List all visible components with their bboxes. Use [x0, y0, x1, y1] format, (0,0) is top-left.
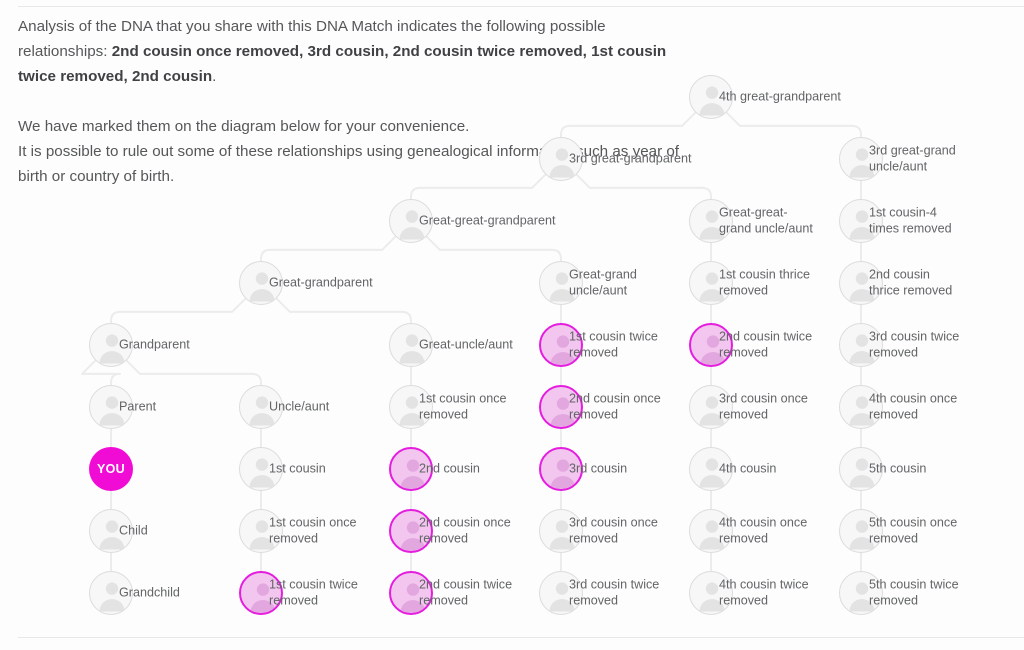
tree-node-child[interactable]: Child	[89, 509, 133, 553]
intro-spacer	[18, 89, 698, 114]
connector-elbow	[127, 361, 261, 385]
intro-line-2-prefix: relationships:	[18, 43, 112, 60]
top-divider	[18, 6, 1024, 7]
tree-node-label: 3rd great-grand uncle/aunt	[869, 144, 956, 175]
tree-node-label: 1st cousin thrice removed	[719, 268, 810, 299]
intro-period: .	[212, 68, 216, 85]
tree-node-3rd-gg-uncle[interactable]: 3rd great-grand uncle/aunt	[839, 137, 883, 181]
tree-node-4c2r-b[interactable]: 4th cousin twice removed	[689, 571, 733, 615]
tree-node-label: Great-grandparent	[269, 275, 373, 291]
tree-node-label: 2nd cousin twice removed	[419, 578, 512, 609]
tree-node-label: 1st cousin twice removed	[269, 578, 358, 609]
tree-node-g-gp[interactable]: Great-grandparent	[239, 261, 283, 305]
tree-node-3c1r-b[interactable]: 3rd cousin once removed	[539, 509, 583, 553]
tree-node-3rd-cousin[interactable]: 3rd cousin	[539, 447, 583, 491]
tree-node-3c2r-a[interactable]: 3rd cousin twice removed	[839, 323, 883, 367]
tree-node-label: 2nd cousin	[419, 461, 480, 477]
tree-node-label: 3rd cousin once removed	[569, 516, 658, 547]
tree-node-label: 4th cousin	[719, 461, 776, 477]
person-avatar-icon: YOU	[89, 447, 133, 491]
tree-node-label: Great-uncle/aunt	[419, 337, 513, 353]
tree-node-label: 2nd cousin thrice removed	[869, 268, 952, 299]
tree-node-4c1r-a[interactable]: 4th cousin once removed	[839, 385, 883, 429]
tree-node-label: 1st cousin	[269, 461, 326, 477]
tree-node-label: Great-great-grandparent	[419, 213, 556, 229]
connector-elbow	[261, 237, 395, 261]
connector-elbow	[727, 113, 861, 137]
tree-node-label: 2nd cousin twice removed	[719, 330, 812, 361]
connector-elbow	[277, 299, 411, 323]
tree-node-label: Grandparent	[119, 337, 190, 353]
tree-node-label: Grandchild	[119, 585, 180, 601]
tree-node-label: 3rd cousin once removed	[719, 392, 808, 423]
tree-node-3rd-ggp[interactable]: 3rd great-grandparent	[539, 137, 583, 181]
tree-node-label: 4th great-grandparent	[719, 89, 841, 105]
tree-node-label: 1st cousin once removed	[419, 392, 507, 423]
tree-node-2c1r-b[interactable]: 2nd cousin once removed	[389, 509, 433, 553]
tree-node-label: 2nd cousin once removed	[569, 392, 661, 423]
tree-node-1c3r[interactable]: 1st cousin thrice removed	[689, 261, 733, 305]
tree-node-uncle-aunt[interactable]: Uncle/aunt	[239, 385, 283, 429]
intro-line-1: Analysis of the DNA that you share with …	[18, 18, 606, 35]
tree-node-1c1r-b[interactable]: 1st cousin once removed	[239, 509, 283, 553]
tree-node-1st-cousin[interactable]: 1st cousin	[239, 447, 283, 491]
tree-node-1c1r-a[interactable]: 1st cousin once removed	[389, 385, 433, 429]
tree-node-label: Parent	[119, 399, 156, 415]
tree-node-2c2r-b[interactable]: 2nd cousin twice removed	[389, 571, 433, 615]
tree-node-parent[interactable]: Parent	[89, 385, 133, 429]
matched-relationships: 2nd cousin once removed, 3rd cousin, 2nd…	[18, 43, 666, 85]
tree-node-5c2r-b[interactable]: 5th cousin twice removed	[839, 571, 883, 615]
tree-node-4th-cousin[interactable]: 4th cousin	[689, 447, 733, 491]
tree-node-label: 3rd cousin twice removed	[569, 578, 659, 609]
you-badge-label: YOU	[89, 447, 133, 491]
tree-node-great-uncle[interactable]: Great-uncle/aunt	[389, 323, 433, 367]
tree-node-label: 3rd great-grandparent	[569, 151, 692, 167]
bottom-divider	[18, 637, 1024, 638]
tree-node-label: 4th cousin once removed	[719, 516, 807, 547]
tree-node-2nd-cousin[interactable]: 2nd cousin	[389, 447, 433, 491]
tree-node-gg-uncle[interactable]: Great-great- grand uncle/aunt	[689, 199, 733, 243]
tree-node-4th-ggp[interactable]: 4th great-grandparent	[689, 75, 733, 119]
tree-node-gg-gp[interactable]: Great-great-grandparent	[389, 199, 433, 243]
tree-node-label: 3rd cousin	[569, 461, 627, 477]
tree-node-label: Uncle/aunt	[269, 399, 329, 415]
tree-node-label: 3rd cousin twice removed	[869, 330, 959, 361]
tree-node-label: 5th cousin twice removed	[869, 578, 959, 609]
dna-relationship-panel: Analysis of the DNA that you share with …	[0, 0, 1024, 650]
tree-node-label: 5th cousin	[869, 461, 926, 477]
tree-node-g-grand-uncle[interactable]: Great-grand uncle/aunt	[539, 261, 583, 305]
tree-node-1c4r[interactable]: 1st cousin-4 times removed	[839, 199, 883, 243]
connector-elbow	[111, 299, 245, 323]
tree-node-label: Great-great- grand uncle/aunt	[719, 206, 813, 237]
tree-node-label: 2nd cousin once removed	[419, 516, 511, 547]
tree-node-4c1r-b[interactable]: 4th cousin once removed	[689, 509, 733, 553]
tree-node-label: 1st cousin once removed	[269, 516, 357, 547]
tree-node-label: Child	[119, 523, 148, 539]
intro-paragraph-marked: We have marked them on the diagram below…	[18, 114, 698, 139]
connector-elbow	[427, 237, 561, 261]
intro-paragraph-analysis: Analysis of the DNA that you share with …	[18, 14, 698, 89]
tree-node-3c2r-b[interactable]: 3rd cousin twice removed	[539, 571, 583, 615]
tree-node-label: 4th cousin once removed	[869, 392, 957, 423]
tree-node-you[interactable]: YOU	[89, 447, 133, 491]
tree-node-label: 1st cousin twice removed	[569, 330, 658, 361]
tree-node-label: 4th cousin twice removed	[719, 578, 809, 609]
tree-node-label: 1st cousin-4 times removed	[869, 206, 952, 237]
tree-node-1c2r-a[interactable]: 1st cousin twice removed	[539, 323, 583, 367]
tree-node-5th-cousin[interactable]: 5th cousin	[839, 447, 883, 491]
tree-node-3c1r-a[interactable]: 3rd cousin once removed	[689, 385, 733, 429]
tree-node-label: 5th cousin once removed	[869, 516, 957, 547]
tree-node-grandparent[interactable]: Grandparent	[89, 323, 133, 367]
tree-node-5c1r-b[interactable]: 5th cousin once removed	[839, 509, 883, 553]
tree-node-2c2r-a[interactable]: 2nd cousin twice removed	[689, 323, 733, 367]
tree-node-label: Great-grand uncle/aunt	[569, 268, 637, 299]
tree-node-1c2r-b[interactable]: 1st cousin twice removed	[239, 571, 283, 615]
tree-node-grandchild[interactable]: Grandchild	[89, 571, 133, 615]
tree-node-2c1r-a[interactable]: 2nd cousin once removed	[539, 385, 583, 429]
tree-node-2c3r[interactable]: 2nd cousin thrice removed	[839, 261, 883, 305]
